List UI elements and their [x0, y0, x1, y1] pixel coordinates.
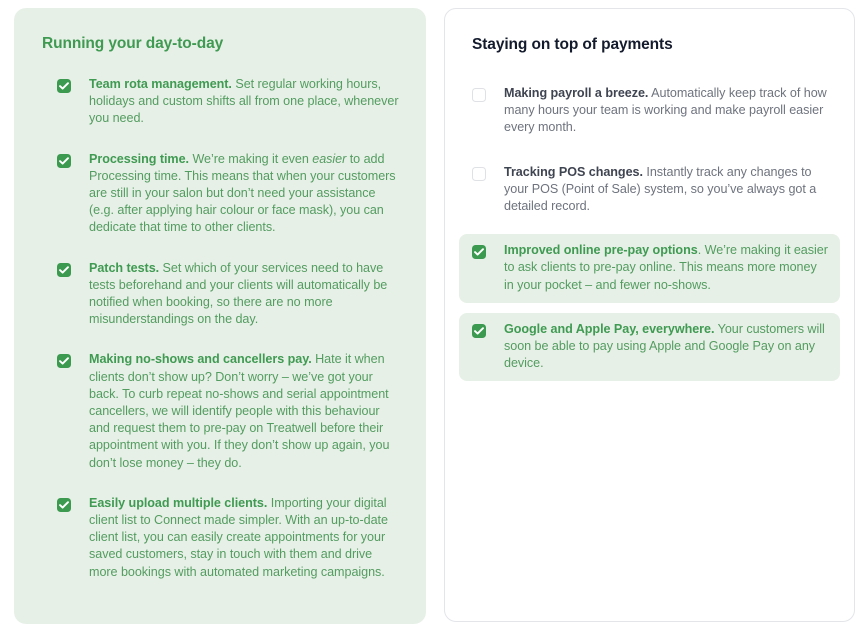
- checklist-item-lead: Google and Apple Pay, everywhere.: [504, 322, 714, 336]
- checklist-item-lead: Improved online pre-pay options: [504, 243, 698, 257]
- checklist-item[interactable]: Tracking POS changes. Instantly track an…: [459, 156, 840, 225]
- left-checklist: Team rota management. Set regular workin…: [40, 76, 400, 581]
- checklist-item[interactable]: Improved online pre-pay options. We’re m…: [459, 234, 840, 303]
- check-icon[interactable]: [472, 324, 486, 338]
- checklist-item[interactable]: Easily upload multiple clients. Importin…: [40, 495, 400, 581]
- checklist-item-text: Improved online pre-pay options. We’re m…: [486, 242, 828, 294]
- feature-checklist-board: Running your day-to-day Team rota manage…: [0, 0, 866, 637]
- panel-right-heading: Staying on top of payments: [459, 35, 840, 55]
- checklist-item-lead: Team rota management.: [89, 77, 232, 91]
- checklist-item[interactable]: Processing time. We’re making it even ea…: [40, 151, 400, 237]
- check-icon[interactable]: [57, 79, 71, 93]
- checklist-item-body: Hate it when clients don’t show up? Don’…: [89, 352, 389, 469]
- checklist-item[interactable]: Making payroll a breeze. Automatically k…: [459, 77, 840, 146]
- checklist-item-text: Easily upload multiple clients. Importin…: [71, 495, 400, 581]
- checklist-item[interactable]: Making no-shows and cancellers pay. Hate…: [40, 351, 400, 471]
- panel-left-heading: Running your day-to-day: [40, 34, 400, 54]
- right-checklist: Making payroll a breeze. Automatically k…: [459, 77, 840, 381]
- panel-staying-on-top-of-payments: Staying on top of payments Making payrol…: [444, 8, 855, 622]
- checklist-item-text: Making no-shows and cancellers pay. Hate…: [71, 351, 400, 471]
- checklist-item-lead: Making no-shows and cancellers pay.: [89, 352, 312, 366]
- checklist-item-lead: Processing time.: [89, 152, 189, 166]
- checklist-item-text: Processing time. We’re making it even ea…: [71, 151, 400, 237]
- checklist-item-text: Tracking POS changes. Instantly track an…: [486, 164, 828, 216]
- checklist-item-lead: Making payroll a breeze.: [504, 86, 648, 100]
- checklist-item-body: We’re making it even: [189, 152, 312, 166]
- checklist-item-emphasis: easier: [312, 152, 346, 166]
- checklist-item-lead: Easily upload multiple clients.: [89, 496, 267, 510]
- checklist-item-lead: Patch tests.: [89, 261, 159, 275]
- check-icon[interactable]: [57, 154, 71, 168]
- checklist-item-text: Team rota management. Set regular workin…: [71, 76, 400, 128]
- check-icon[interactable]: [57, 498, 71, 512]
- checklist-item[interactable]: Team rota management. Set regular workin…: [40, 76, 400, 128]
- check-icon[interactable]: [57, 263, 71, 277]
- checklist-item[interactable]: Patch tests. Set which of your services …: [40, 260, 400, 329]
- check-icon[interactable]: [472, 245, 486, 259]
- empty-checkbox-icon[interactable]: [472, 167, 486, 181]
- panel-running-day-to-day: Running your day-to-day Team rota manage…: [14, 8, 426, 624]
- check-icon[interactable]: [57, 354, 71, 368]
- checklist-item-text: Patch tests. Set which of your services …: [71, 260, 400, 329]
- checklist-item-lead: Tracking POS changes.: [504, 165, 643, 179]
- checklist-item[interactable]: Google and Apple Pay, everywhere. Your c…: [459, 313, 840, 382]
- empty-checkbox-icon[interactable]: [472, 88, 486, 102]
- checklist-item-text: Making payroll a breeze. Automatically k…: [486, 85, 828, 137]
- checklist-item-text: Google and Apple Pay, everywhere. Your c…: [486, 321, 828, 373]
